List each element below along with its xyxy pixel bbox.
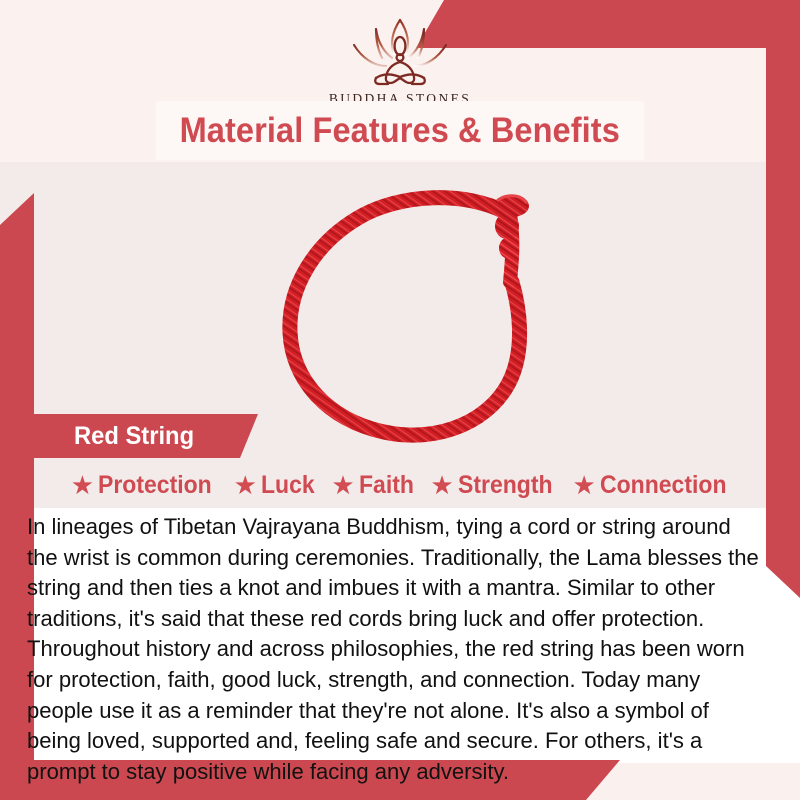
page-title: Material Features & Benefits xyxy=(180,111,620,151)
feature-label: Luck xyxy=(261,471,315,500)
star-icon: ★ xyxy=(234,472,257,498)
product-name-ribbon: Red String xyxy=(26,414,258,458)
feature-label: Faith xyxy=(359,471,414,500)
brand-logo: BUDDHA STONES xyxy=(0,14,800,107)
feature-list: ★ Protection ★ Luck ★ Faith ★ Strength ★… xyxy=(40,466,768,504)
star-icon: ★ xyxy=(430,472,453,498)
infographic-page: BUDDHA STONES Material Features & Benefi… xyxy=(0,0,800,800)
feature-label: Strength xyxy=(458,471,553,500)
product-image-red-string-bracelet xyxy=(262,170,602,470)
title-panel: Material Features & Benefits xyxy=(156,101,644,160)
feature-item: ★ Protection xyxy=(71,471,222,500)
feature-item: ★ Faith xyxy=(331,471,418,500)
feature-item: ★ Connection xyxy=(572,471,737,500)
feature-label: Protection xyxy=(98,471,212,500)
feature-label: Connection xyxy=(600,471,727,500)
star-icon: ★ xyxy=(331,472,354,498)
feature-item: ★ Luck xyxy=(234,471,320,500)
product-name-label: Red String xyxy=(74,422,194,451)
decorative-bar-right xyxy=(766,48,800,598)
lotus-meditation-icon xyxy=(332,14,468,88)
feature-item: ★ Strength xyxy=(430,471,560,500)
star-icon: ★ xyxy=(71,472,94,498)
description-text: In lineages of Tibetan Vajrayana Buddhis… xyxy=(27,512,762,787)
star-icon: ★ xyxy=(572,472,595,498)
